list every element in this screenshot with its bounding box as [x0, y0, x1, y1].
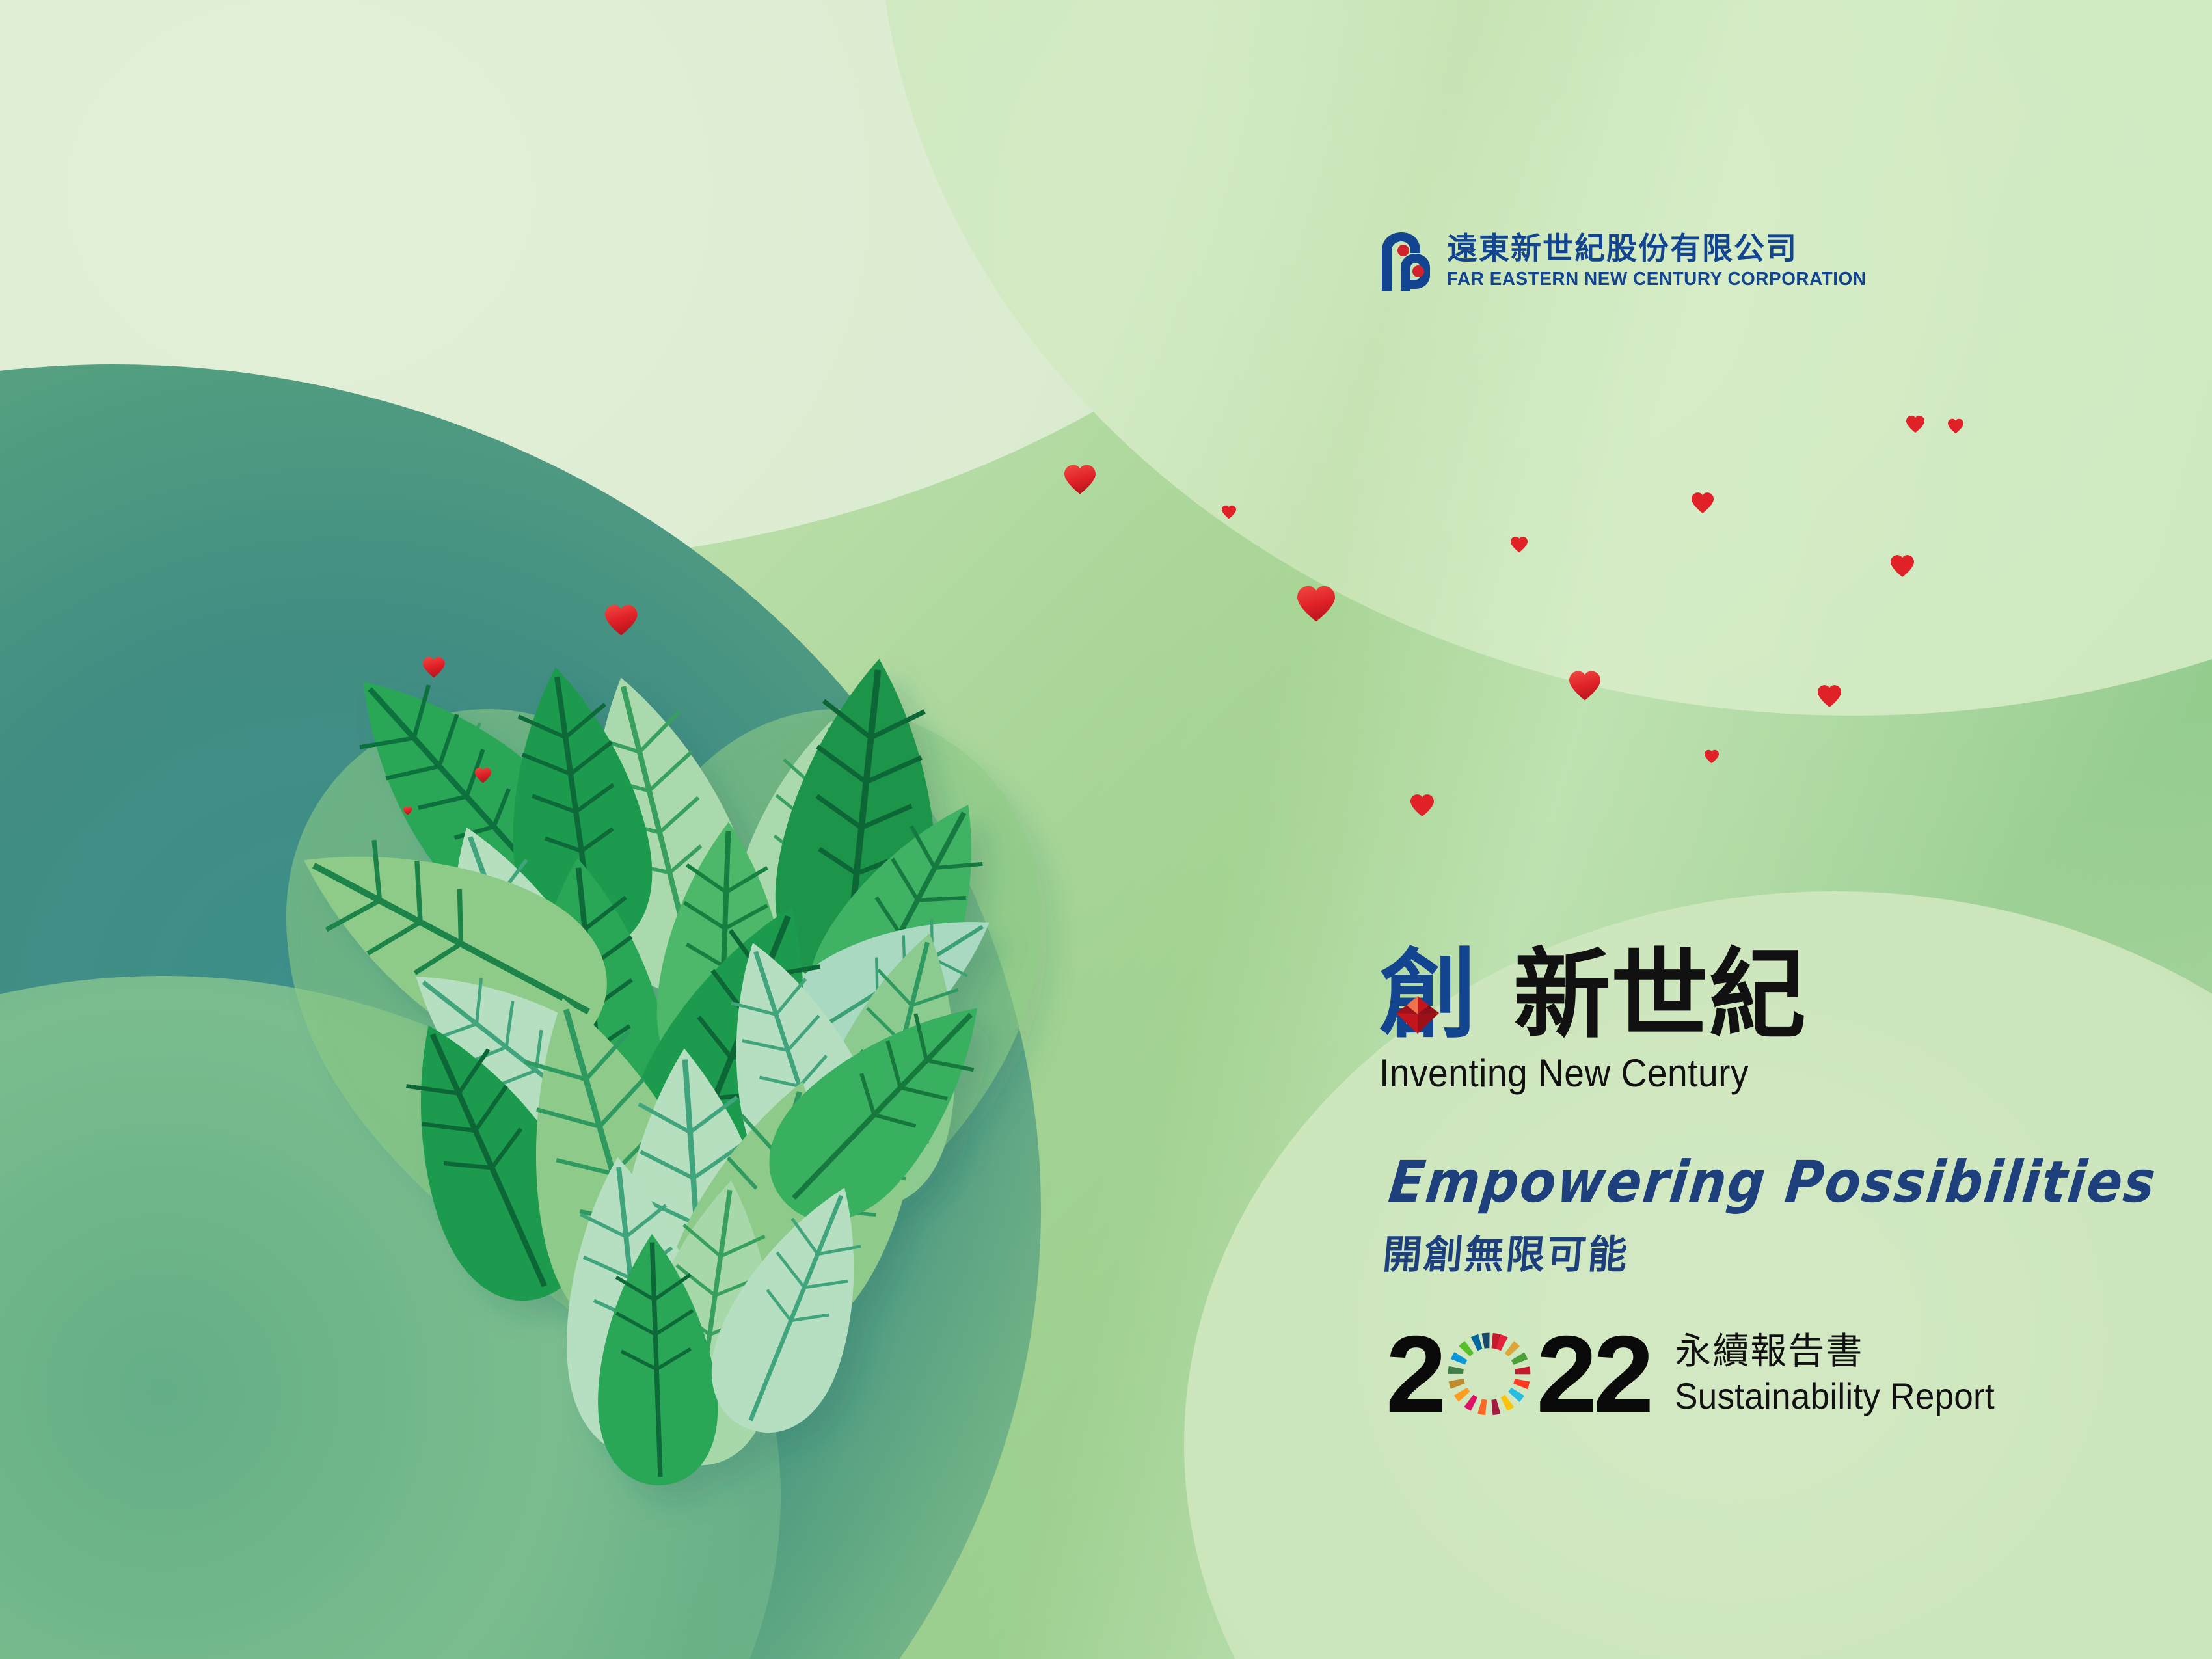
- title-block: 創 新 世 紀 Inventing New Century: [1379, 934, 1806, 1096]
- floating-heart: [1064, 464, 1096, 495]
- floating-heart: [1222, 505, 1236, 519]
- logo-chinese-name: 遠東新世紀股份有限公司: [1447, 234, 1883, 264]
- title-char-xin: 新: [1513, 947, 1611, 1044]
- year-digit-first: 2: [1386, 1324, 1442, 1425]
- floating-heart: [1410, 794, 1434, 817]
- floating-heart: [1297, 586, 1335, 622]
- logo-english-name: FAR EASTERN NEW CENTURY CORPORATION: [1447, 270, 1867, 289]
- heart-shaped-leaf-cluster: [208, 514, 1119, 1438]
- year-digits: 2: [1386, 1324, 1650, 1425]
- title-english: Inventing New Century: [1379, 1051, 1772, 1096]
- title-char-ji: 紀: [1708, 947, 1806, 1044]
- fenc-monogram-icon: [1379, 231, 1433, 291]
- title-char-shi: 世: [1611, 947, 1708, 1044]
- floating-heart: [1692, 492, 1714, 514]
- company-logo: 遠東新世紀股份有限公司 FAR EASTERN NEW CENTURY CORP…: [1379, 231, 1883, 291]
- slogan-english: Empowering Possibilities: [1386, 1149, 2159, 1215]
- title-char-chuang-wrapper: 創: [1379, 947, 1477, 1044]
- year-report-block: 2: [1386, 1324, 2012, 1425]
- floating-heart: [1705, 749, 1719, 764]
- floating-heart: [1569, 670, 1600, 701]
- floating-heart: [1511, 536, 1528, 553]
- report-title-english: Sustainability Report: [1675, 1376, 1995, 1417]
- report-cover: 遠東新世紀股份有限公司 FAR EASTERN NEW CENTURY CORP…: [0, 0, 2212, 1659]
- report-title-chinese: 永續報告書: [1675, 1332, 2012, 1373]
- report-labels: 永續報告書 Sustainability Report: [1675, 1332, 2012, 1417]
- heart-gem-icon: [1394, 990, 1442, 1035]
- floating-heart: [1906, 415, 1924, 433]
- floating-heart: [1948, 418, 1963, 434]
- year-digits-rest: 22: [1536, 1324, 1650, 1425]
- sdg-color-wheel-icon: [1446, 1331, 1532, 1417]
- floating-heart: [1891, 554, 1914, 578]
- slogan-block: Empowering Possibilities 開創無限可能: [1386, 1155, 2153, 1280]
- slogan-chinese: 開創無限可能: [1381, 1223, 2152, 1280]
- floating-heart: [1818, 684, 1841, 708]
- title-chinese: 創 新 世 紀: [1379, 934, 1806, 1044]
